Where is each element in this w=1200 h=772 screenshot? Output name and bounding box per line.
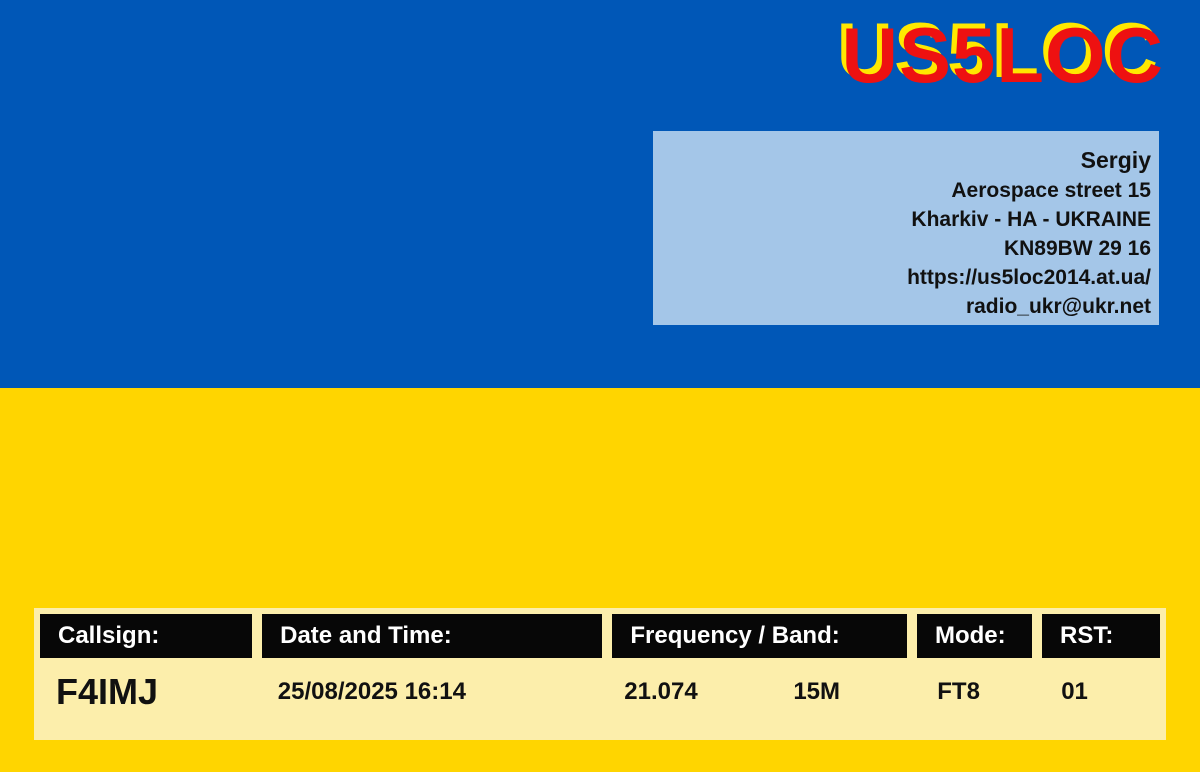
qsl-card: US5LOC Sergiy Aerospace street 15 Kharki…	[0, 0, 1200, 772]
header-datetime: Date and Time:	[262, 614, 602, 658]
operator-website[interactable]: https://us5loc2014.at.ua/	[663, 263, 1151, 292]
header-frequency-band: Frequency / Band:	[612, 614, 907, 658]
operator-grid-locator: KN89BW 29 16	[663, 234, 1151, 263]
value-datetime: 25/08/2025 16:14	[260, 658, 596, 726]
operator-city-country: Kharkiv - HA - UKRAINE	[663, 205, 1151, 234]
operator-email[interactable]: radio_ukr@ukr.net	[663, 292, 1151, 321]
operator-name: Sergiy	[663, 145, 1151, 176]
value-frequency: 21.074	[624, 678, 793, 706]
header-rst: RST:	[1042, 614, 1160, 658]
qso-table-header-row: Callsign: Date and Time: Frequency / Ban…	[40, 614, 1160, 658]
station-callsign-logo: US5LOC	[842, 16, 1164, 94]
operator-street: Aerospace street 15	[663, 176, 1151, 205]
header-callsign: Callsign:	[40, 614, 252, 658]
value-callsign: F4IMJ	[40, 658, 250, 726]
value-frequency-band-group: 21.074 15M	[606, 658, 909, 726]
header-mode: Mode:	[917, 614, 1032, 658]
value-band: 15M	[793, 678, 909, 706]
value-mode: FT8	[919, 658, 1033, 726]
qso-details-table: Callsign: Date and Time: Frequency / Ban…	[34, 608, 1166, 740]
value-rst: 01	[1043, 658, 1160, 726]
qso-table-row: F4IMJ 25/08/2025 16:14 21.074 15M FT8 01	[40, 658, 1160, 726]
operator-address-panel: Sergiy Aerospace street 15 Kharkiv - HA …	[653, 131, 1159, 325]
